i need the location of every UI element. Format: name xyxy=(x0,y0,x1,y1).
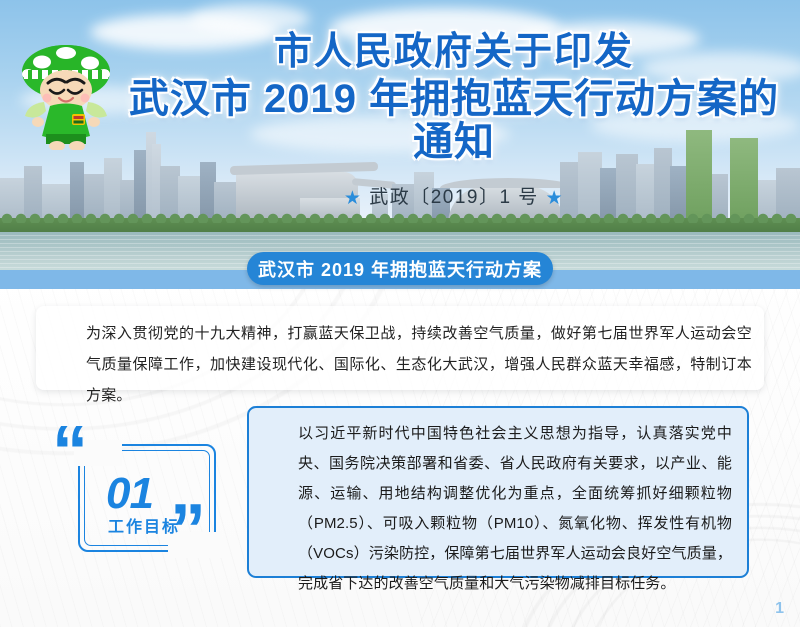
quote-open-icon: “ xyxy=(52,416,88,488)
section-01-marker: “ ” 01 工作目标 xyxy=(52,420,242,570)
page-title-line-1: 市人民政府关于印发 xyxy=(118,32,790,73)
section-body-paragraph: 以习近平新时代中国特色社会主义思想为指导，认真落实党中央、国务院决策部署和省委、… xyxy=(266,419,732,599)
section-number: 01 xyxy=(106,472,153,516)
section-banner-label: 武汉市 2019 年拥抱蓝天行动方案 xyxy=(258,256,542,282)
section-banner-pill: 武汉市 2019 年拥抱蓝天行动方案 xyxy=(247,252,553,285)
wuhan-mushroom-mascot-icon xyxy=(12,26,120,150)
section-label: 工作目标 xyxy=(108,520,180,536)
section-body-text: 以习近平新时代中国特色社会主义思想为指导，认真落实党中央、国务院决策部署和省委、… xyxy=(266,419,732,599)
page-title-line-2: 武汉市 2019 年拥抱蓝天行动方案的通知 xyxy=(118,78,790,164)
document-number-text: 武政〔2019〕1 号 xyxy=(369,187,539,208)
page-number: 1 xyxy=(775,600,784,618)
document-number: ★ 武政〔2019〕1 号 ★ xyxy=(118,182,790,210)
hero-title-block: 市人民政府关于印发 武汉市 2019 年拥抱蓝天行动方案的通知 ★ 武政〔201… xyxy=(118,32,790,210)
header-hero: 市人民政府关于印发 武汉市 2019 年拥抱蓝天行动方案的通知 ★ 武政〔201… xyxy=(0,0,800,272)
intro-paragraph-text: 为深入贯彻党的十九大精神，打赢蓝天保卫战，持续改善空气质量，做好第七届世界军人运… xyxy=(52,318,752,411)
cloud-shape xyxy=(190,4,310,34)
star-icon-right: ★ xyxy=(546,188,565,209)
infographic-page: 市人民政府关于印发 武汉市 2019 年拥抱蓝天行动方案的通知 ★ 武政〔201… xyxy=(0,0,800,627)
intro-paragraph: 为深入贯彻党的十九大精神，打赢蓝天保卫战，持续改善空气质量，做好第七届世界军人运… xyxy=(52,318,752,411)
star-icon-left: ★ xyxy=(344,188,363,209)
